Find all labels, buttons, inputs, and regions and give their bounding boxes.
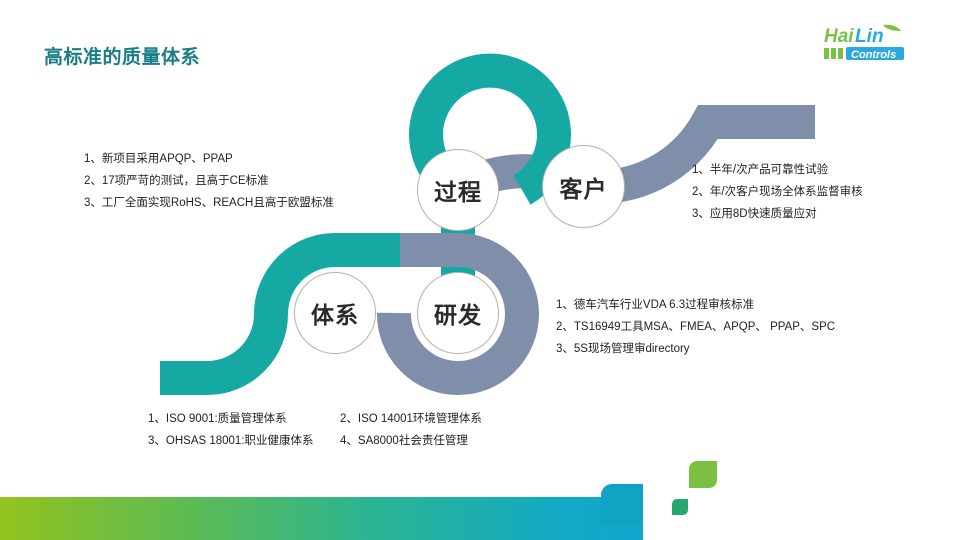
decoration-green-square-large xyxy=(689,461,717,488)
text-row: 1、ISO 9001:质量管理体系2、ISO 14001环境管理体系 xyxy=(148,408,482,430)
page-title: 高标准的质量体系 xyxy=(44,42,200,69)
logo-bar-3 xyxy=(838,48,843,59)
logo-bar-1 xyxy=(824,48,829,59)
logo-svg: Hai Li n Controls xyxy=(822,22,942,66)
node-customer-label: 客户 xyxy=(560,170,608,204)
text-line: 1、半年/次产品可靠性试验 xyxy=(692,159,863,181)
node-rd-label: 研发 xyxy=(434,296,482,330)
node-system-label: 体系 xyxy=(311,296,359,330)
text-cell: 1、ISO 9001:质量管理体系 xyxy=(148,408,340,430)
logo-n-text: n xyxy=(872,26,884,47)
node-rd[interactable]: 研发 xyxy=(417,272,499,354)
text-block-process: 1、新项目采用APQP、PPAP 2、17项严苛的测试，且高于CE标准 3、工厂… xyxy=(84,148,334,214)
decoration-cyan-square xyxy=(601,484,643,526)
node-process-label: 过程 xyxy=(434,173,482,207)
text-cell: 4、SA8000社会责任管理 xyxy=(340,430,468,452)
logo-lin-text: Li xyxy=(855,26,873,47)
text-row: 3、OHSAS 18001:职业健康体系4、SA8000社会责任管理 xyxy=(148,430,482,452)
logo-bar-2 xyxy=(831,48,836,59)
logo-leaf-icon xyxy=(883,25,901,31)
text-line: 3、工厂全面实现RoHS、REACH且高于欧盟标准 xyxy=(84,192,334,214)
logo-hai-text: Hai xyxy=(824,26,854,47)
text-line: 1、德车汽车行业VDA 6.3过程审核标准 xyxy=(556,294,835,316)
footer-gradient-bar xyxy=(0,497,643,540)
node-process[interactable]: 过程 xyxy=(417,149,499,231)
text-cell: 2、ISO 14001环境管理体系 xyxy=(340,408,482,430)
slide-canvas: 高标准的质量体系 Hai Li n Controls xyxy=(0,0,960,540)
node-system[interactable]: 体系 xyxy=(294,272,376,354)
text-cell: 3、OHSAS 18001:职业健康体系 xyxy=(148,430,340,452)
text-line: 1、新项目采用APQP、PPAP xyxy=(84,148,334,170)
text-block-system: 1、ISO 9001:质量管理体系2、ISO 14001环境管理体系 3、OHS… xyxy=(148,408,482,452)
text-block-customer: 1、半年/次产品可靠性试验 2、年/次客户现场全体系监督审核 3、应用8D快速质… xyxy=(692,159,863,225)
text-line: 3、应用8D快速质量应对 xyxy=(692,203,863,225)
text-line: 2、17项严苛的测试，且高于CE标准 xyxy=(84,170,334,192)
process-ribbon-diagram xyxy=(0,0,960,540)
text-line: 3、5S现场管理审directory xyxy=(556,338,835,360)
text-line: 2、TS16949工具MSA、FMEA、APQP、 PPAP、SPC xyxy=(556,316,835,338)
hailin-controls-logo: Hai Li n Controls xyxy=(822,22,942,66)
logo-controls-text: Controls xyxy=(851,49,896,61)
text-line: 2、年/次客户现场全体系监督审核 xyxy=(692,181,863,203)
text-block-rd: 1、德车汽车行业VDA 6.3过程审核标准 2、TS16949工具MSA、FME… xyxy=(556,294,835,360)
node-customer[interactable]: 客户 xyxy=(542,145,625,228)
decoration-green-square-small xyxy=(672,499,688,515)
